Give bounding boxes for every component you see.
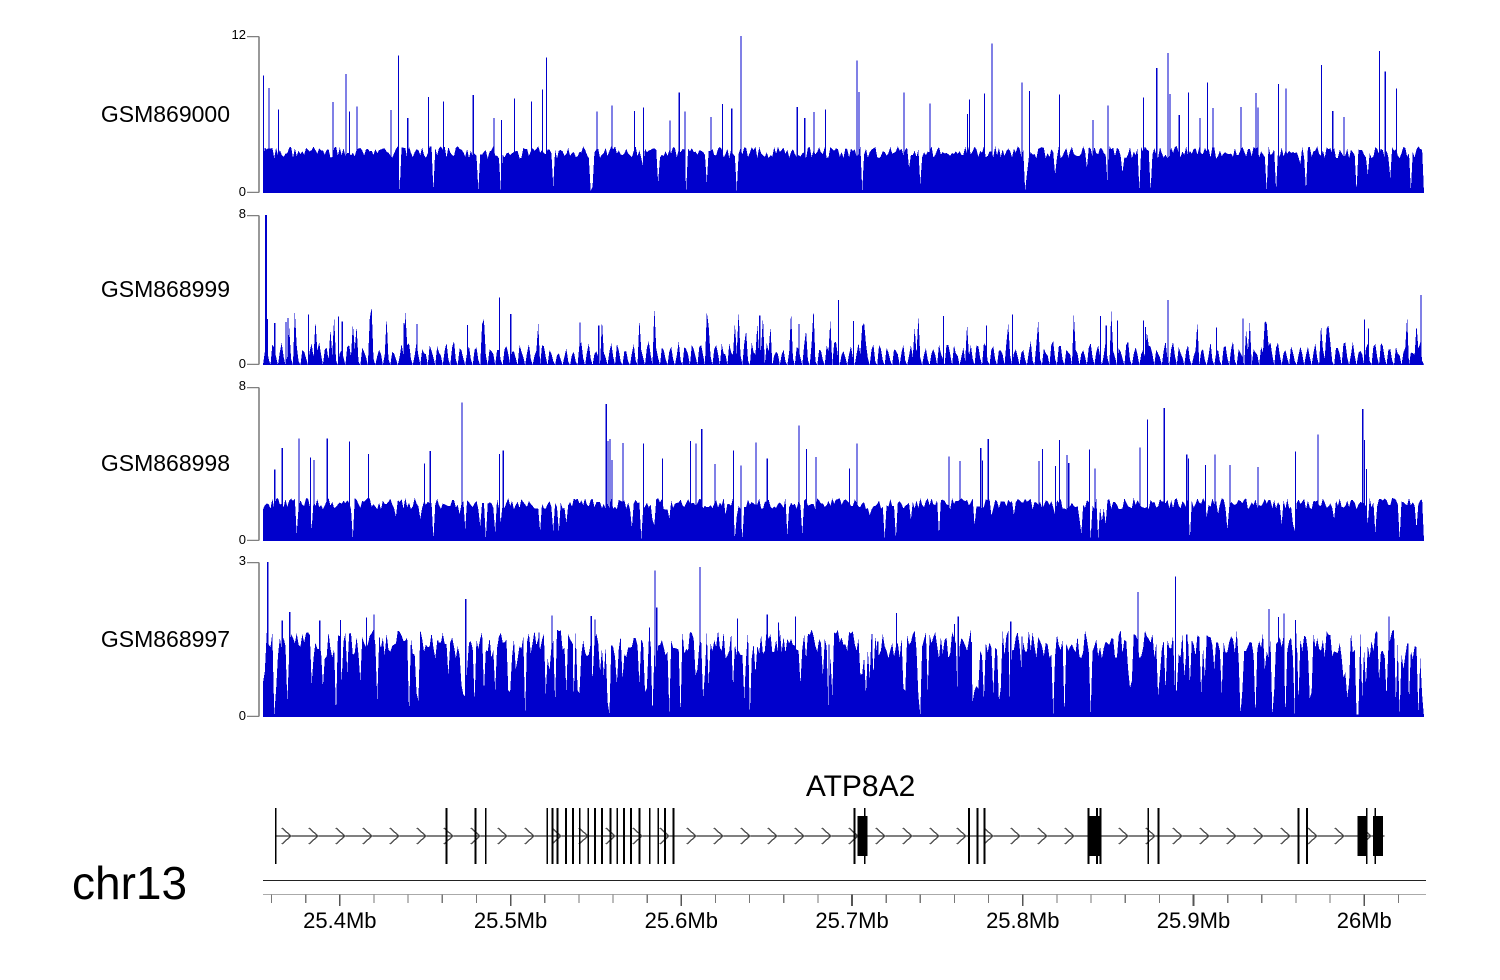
x-tick-label: 25.8Mb bbox=[943, 908, 1103, 934]
gene-model-track[interactable] bbox=[0, 800, 1500, 870]
coverage-track-gsm868999[interactable] bbox=[263, 215, 1424, 365]
chromosome-label: chr13 bbox=[72, 856, 187, 910]
genome-coordinate-axis bbox=[0, 878, 1500, 906]
y-axis-min-gsm868998: 0 bbox=[206, 532, 246, 547]
y-axis-min-gsm868999: 0 bbox=[206, 356, 246, 371]
x-tick-label: 25.6Mb bbox=[601, 908, 761, 934]
x-tick-label: 25.7Mb bbox=[772, 908, 932, 934]
x-tick-label: 25.4Mb bbox=[260, 908, 420, 934]
coverage-track-gsm869000[interactable] bbox=[263, 36, 1424, 193]
y-axis-gsm868998 bbox=[246, 387, 260, 541]
coverage-track-gsm868998[interactable] bbox=[263, 387, 1424, 541]
x-tick-label: 25.9Mb bbox=[1114, 908, 1274, 934]
x-tick-label: 26Mb bbox=[1284, 908, 1444, 934]
x-tick-label: 25.5Mb bbox=[431, 908, 591, 934]
y-axis-min-gsm869000: 0 bbox=[206, 184, 246, 199]
y-axis-max-gsm868999: 8 bbox=[206, 206, 246, 221]
genome-browser-figure: GSM869000120GSM86899980GSM86899880GSM868… bbox=[0, 0, 1500, 980]
gene-name-label: ATP8A2 bbox=[711, 770, 1011, 804]
y-axis-gsm868999 bbox=[246, 215, 260, 365]
sample-label-gsm869000: GSM869000 bbox=[60, 101, 230, 128]
y-axis-max-gsm869000: 12 bbox=[206, 27, 246, 42]
y-axis-max-gsm868997: 3 bbox=[206, 553, 246, 568]
y-axis-max-gsm868998: 8 bbox=[206, 378, 246, 393]
y-axis-gsm868997 bbox=[246, 562, 260, 717]
sample-label-gsm868997: GSM868997 bbox=[60, 626, 230, 653]
y-axis-gsm869000 bbox=[246, 36, 260, 193]
coverage-track-gsm868997[interactable] bbox=[263, 562, 1424, 717]
sample-label-gsm868999: GSM868999 bbox=[60, 276, 230, 303]
y-axis-min-gsm868997: 0 bbox=[206, 708, 246, 723]
sample-label-gsm868998: GSM868998 bbox=[60, 450, 230, 477]
